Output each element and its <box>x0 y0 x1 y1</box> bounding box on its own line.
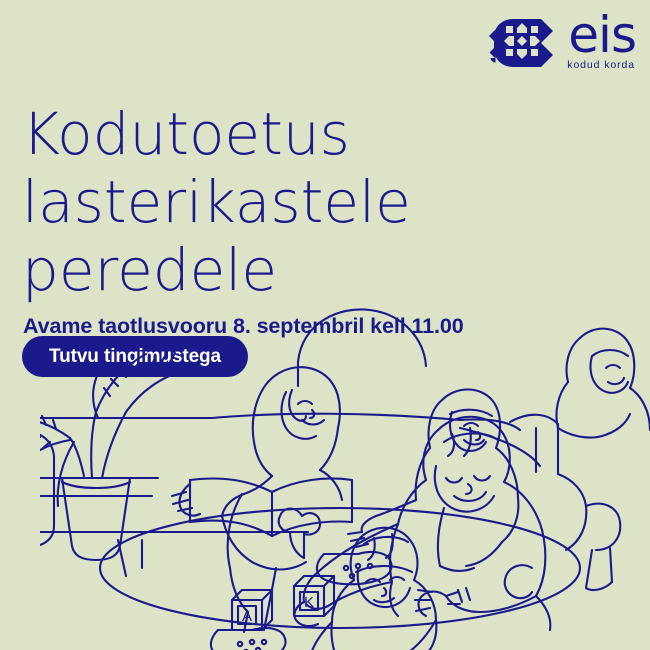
svg-text:A: A <box>242 608 252 625</box>
eis-logo[interactable]: eis kodud korda <box>489 14 636 77</box>
family-illustration: A K <box>40 300 650 650</box>
eis-ornament-shield-icon <box>489 14 559 77</box>
headline: Kodutoetus lasterikastele peredele <box>22 101 411 305</box>
svg-text:K: K <box>304 594 314 611</box>
eis-tagline: kodud korda <box>567 60 635 71</box>
campaign-banner: eis kodud korda Kodutoetus lasterikastel… <box>0 0 650 650</box>
eis-logo-text: eis kodud korda <box>567 12 636 71</box>
eis-wordmark: eis <box>568 12 636 58</box>
